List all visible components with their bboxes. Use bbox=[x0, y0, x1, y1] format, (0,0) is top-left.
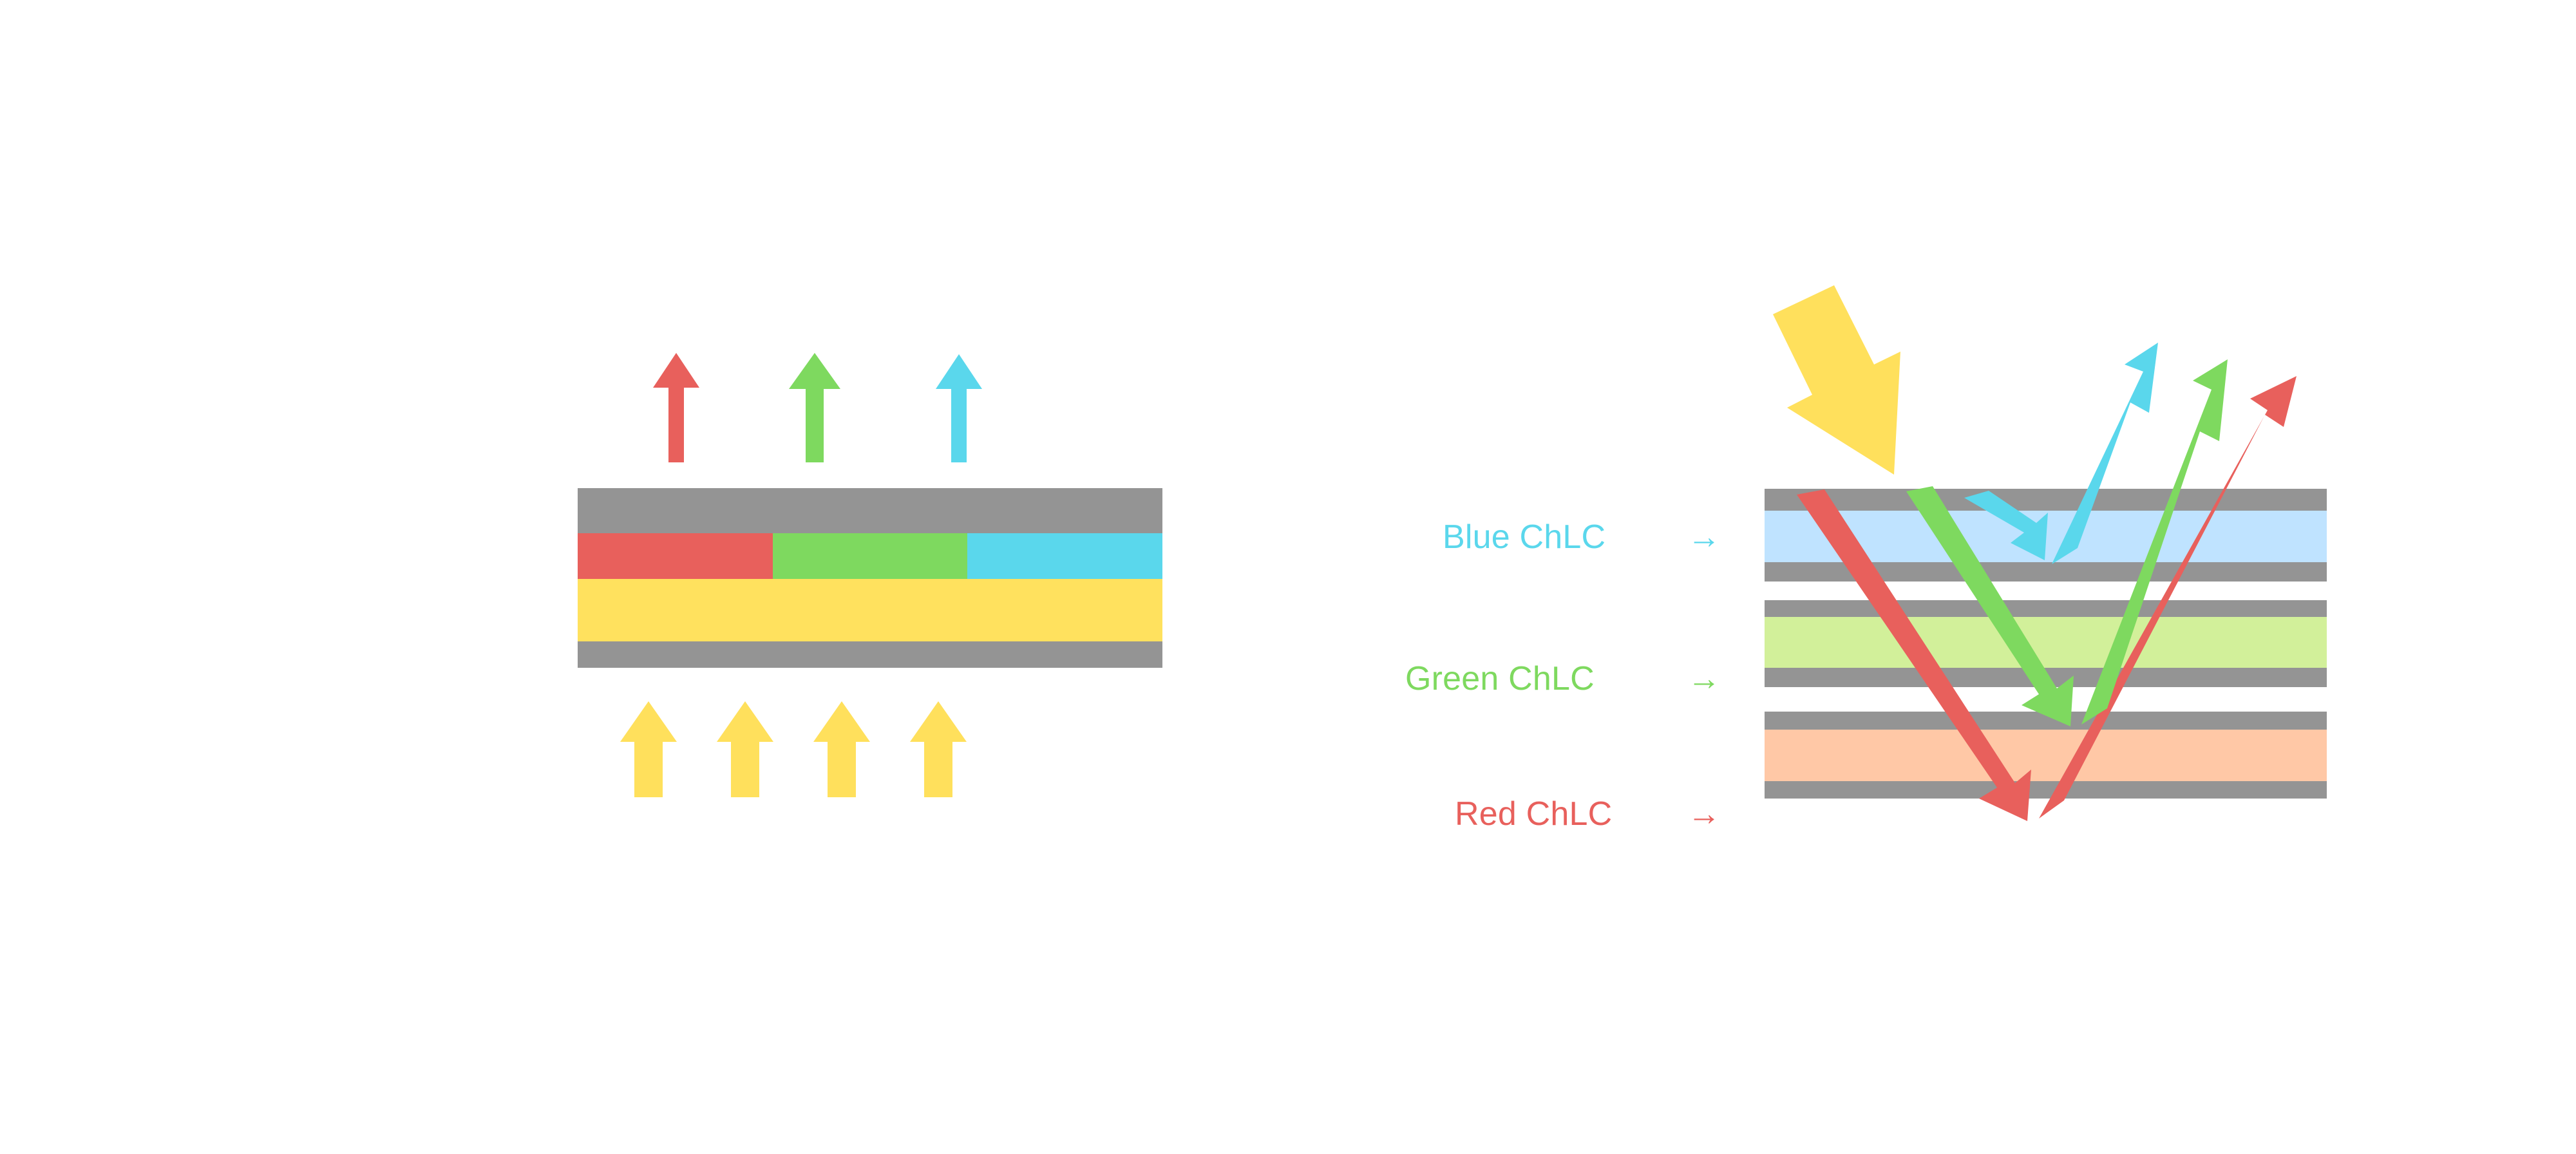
left-panel-group bbox=[578, 353, 1162, 797]
backlight-arrow-4 bbox=[910, 701, 967, 797]
backlight-arrow-3 bbox=[813, 701, 870, 797]
green-top-substrate bbox=[1765, 600, 2327, 617]
blue-subpixel bbox=[967, 533, 1162, 579]
red-chlc-label-text: Red ChLC bbox=[1455, 795, 1612, 833]
blue-chlc-label-text: Blue ChLC bbox=[1443, 518, 1605, 556]
figure-canvas: Blue ChLC → Green ChLC → Red ChLC → bbox=[0, 0, 2576, 1154]
backlight-arrow-2 bbox=[717, 701, 773, 797]
incident-white-light-arrow bbox=[1773, 285, 1900, 475]
blue-top-substrate bbox=[1765, 489, 2327, 511]
green-chlc-label-text: Green ChLC bbox=[1405, 660, 1595, 697]
green-chlc-label: Green ChLC → bbox=[1405, 660, 1721, 697]
chlc-diagram: Blue ChLC → Green ChLC → Red ChLC → bbox=[0, 0, 2576, 1154]
green-subpixel bbox=[773, 533, 967, 579]
bottom-electrode-layer bbox=[578, 641, 1162, 668]
red-bottom-substrate bbox=[1765, 781, 2327, 799]
red-chlc-label: Red ChLC → bbox=[1455, 795, 1721, 833]
green-chlc-layer bbox=[1765, 617, 2327, 668]
blue-chlc-label: Blue ChLC → bbox=[1443, 518, 1721, 556]
backlight-arrow-1 bbox=[620, 701, 677, 797]
blue-chlc-label-arrow-icon: → bbox=[1687, 518, 1721, 556]
right-panel-group: Blue ChLC → Green ChLC → Red ChLC → bbox=[1405, 285, 2327, 833]
cyan-out-arrow bbox=[936, 354, 982, 462]
top-electrode-layer bbox=[578, 488, 1162, 533]
red-chlc-label-arrow-icon: → bbox=[1687, 795, 1721, 833]
red-subpixel bbox=[578, 533, 773, 579]
red-chlc-layer bbox=[1765, 730, 2327, 781]
green-out-arrow bbox=[789, 353, 840, 462]
backlight-layer bbox=[578, 579, 1162, 641]
green-chlc-label-arrow-icon: → bbox=[1687, 660, 1721, 697]
red-out-arrow bbox=[653, 353, 699, 462]
